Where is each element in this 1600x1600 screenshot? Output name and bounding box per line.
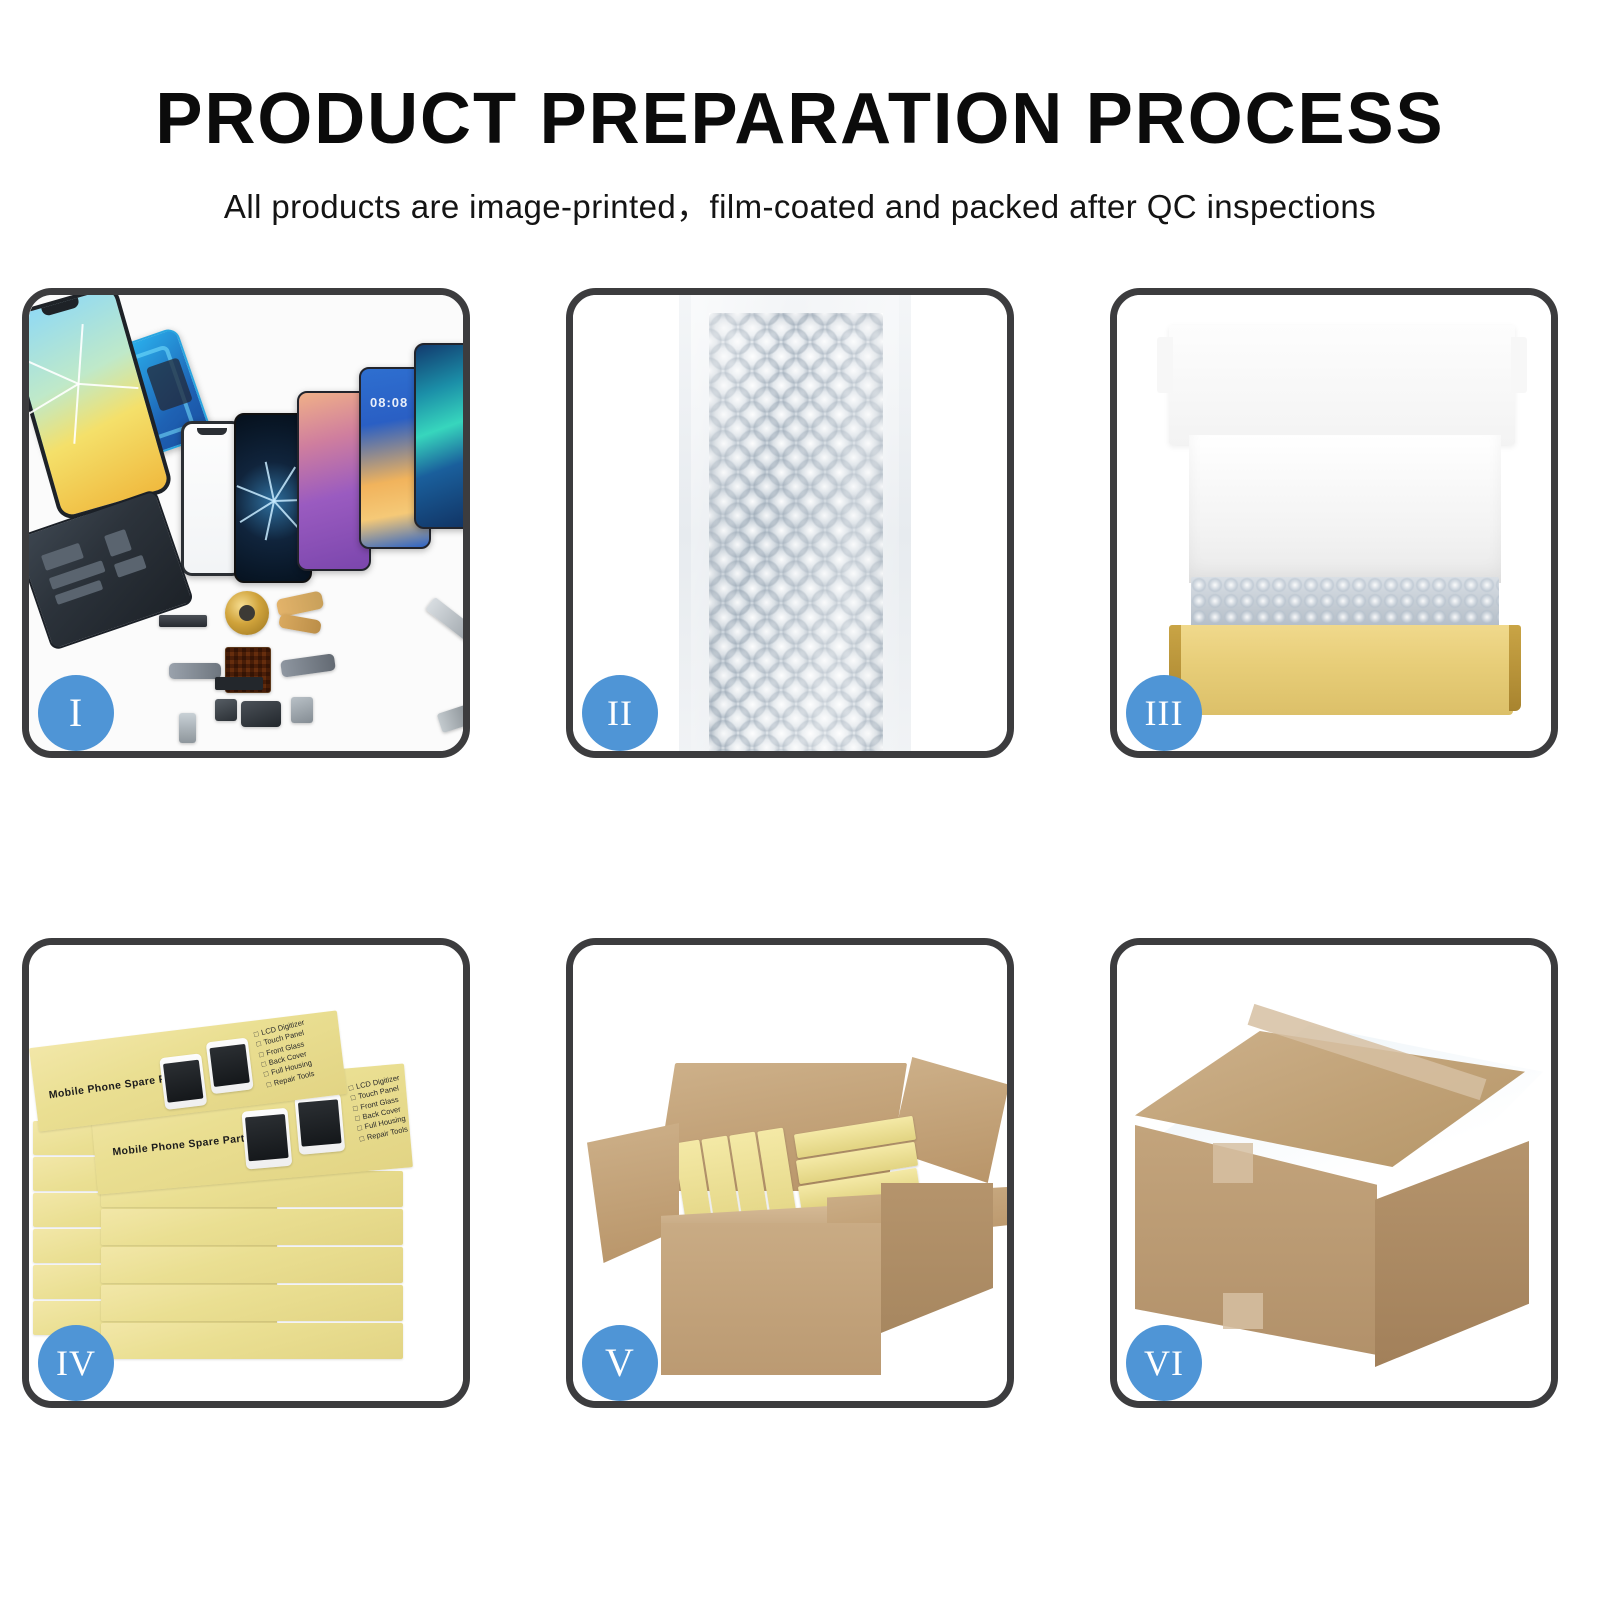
teal-phone-icon <box>414 343 463 529</box>
wireless-charging-coil-icon <box>225 591 269 635</box>
step-badge-2: II <box>582 675 658 751</box>
retail-box-plain <box>101 1323 403 1359</box>
mailer-lid <box>1169 325 1515 445</box>
retail-box-screen-image-2 <box>294 1093 345 1155</box>
step-badge-5: V <box>582 1325 658 1401</box>
process-step-1: 08:08 <box>22 288 470 758</box>
process-step-5: V <box>566 938 1014 1408</box>
flex-cable-icon-2 <box>278 613 322 634</box>
retail-box-plain <box>101 1247 403 1283</box>
step-badge-3: III <box>1126 675 1202 751</box>
mailer-tray <box>1177 625 1513 715</box>
retail-box-screen-image-1 <box>159 1053 207 1110</box>
process-step-6: VI <box>1110 938 1558 1408</box>
process-step-grid: 08:08 <box>22 288 1578 1438</box>
carton-side-right <box>881 1183 993 1333</box>
sim-tray-icon <box>179 713 196 743</box>
speaker-module-icon <box>241 701 281 727</box>
packing-tape-side-upper <box>1213 1143 1253 1183</box>
process-step-4: Mobile Phone Spare Parts LCD Digitizer T… <box>22 938 470 1408</box>
screws-icon <box>437 705 463 733</box>
infographic-page: PRODUCT PREPARATION PROCESS All products… <box>0 0 1600 1600</box>
step-badge-1: I <box>38 675 114 751</box>
battery-connector-icon <box>215 699 237 721</box>
process-step-2: II <box>566 288 1014 758</box>
retail-box-plain <box>101 1285 403 1321</box>
retail-box-screen-image-1 <box>241 1108 292 1170</box>
page-title: PRODUCT PREPARATION PROCESS <box>16 78 1584 160</box>
vibration-motor-icon <box>291 697 313 723</box>
antenna-strip-icon <box>215 677 263 690</box>
tweezers-icon <box>425 597 463 645</box>
earpiece-mesh-icon <box>159 615 207 627</box>
step-badge-4: IV <box>38 1325 114 1401</box>
bubble-wrap-bubbles <box>709 313 883 751</box>
header: PRODUCT PREPARATION PROCESS All products… <box>0 0 1600 228</box>
bubble-wrap-sheet <box>679 295 911 751</box>
phone-clock-label: 08:08 <box>370 395 408 410</box>
carton-side-front <box>661 1223 881 1375</box>
process-step-3: III <box>1110 288 1558 758</box>
retail-box-screen-image-2 <box>206 1038 254 1095</box>
page-subtitle: All products are image-printed，film-coat… <box>0 180 1600 228</box>
packing-tape-side-lower <box>1223 1293 1263 1329</box>
flex-cable-icon-3 <box>169 663 221 679</box>
mailer-foam-liner <box>1189 435 1501 583</box>
flex-cable-icon-4 <box>280 653 336 677</box>
step-badge-6: VI <box>1126 1325 1202 1401</box>
retail-box-plain <box>101 1209 403 1245</box>
